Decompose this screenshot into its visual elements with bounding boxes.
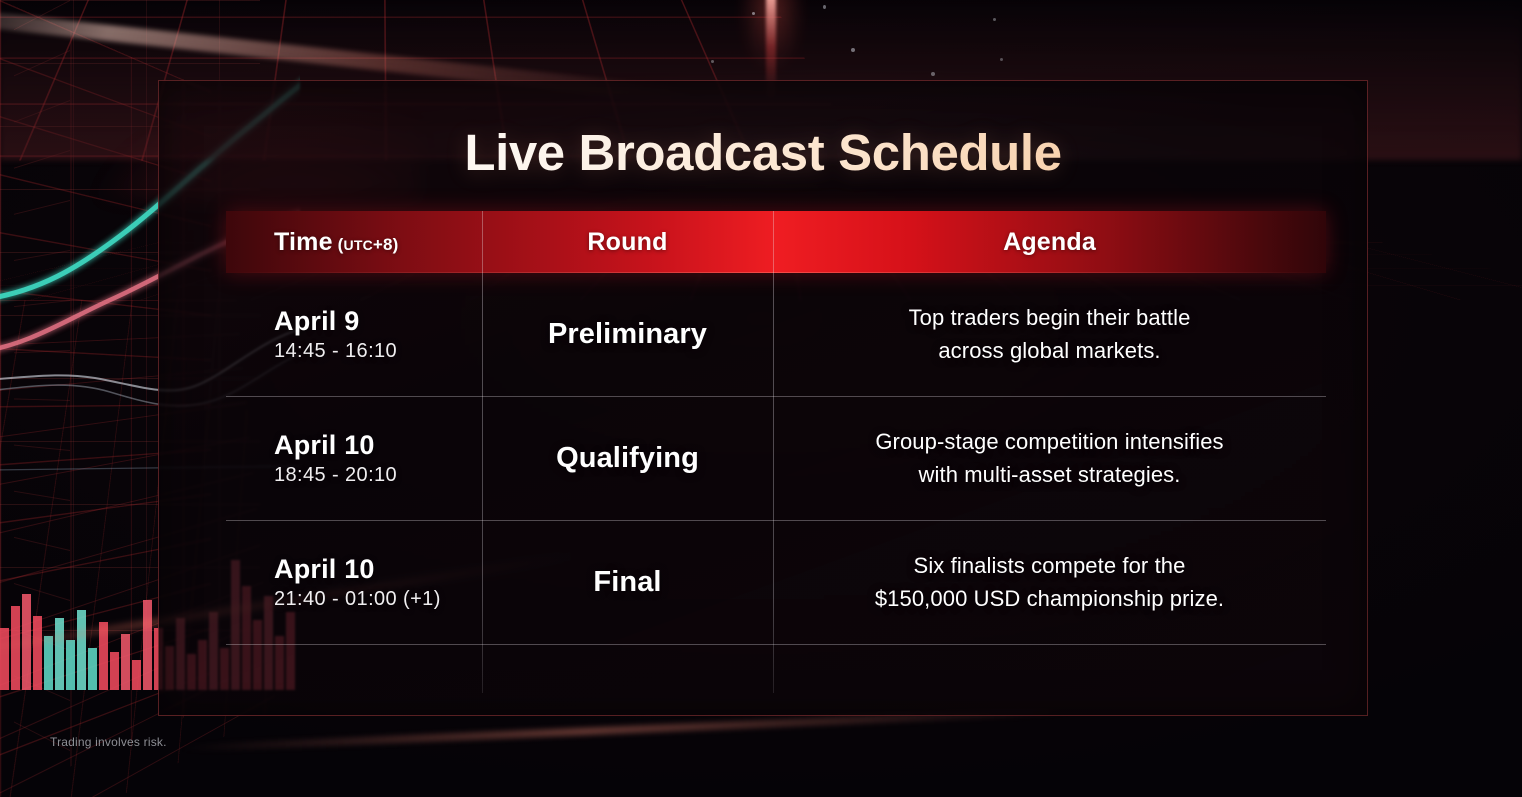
agenda-line: Group-stage competition intensifies bbox=[795, 426, 1304, 459]
row-time-range: 18:45 - 20:10 bbox=[274, 464, 482, 487]
table-header-row: Time (UTC+8) Round Agenda bbox=[226, 211, 1326, 273]
particle-dot bbox=[931, 72, 935, 76]
particle-dot bbox=[1000, 58, 1003, 61]
particle-dot bbox=[711, 60, 714, 63]
risk-disclaimer: Trading involves risk. bbox=[50, 735, 167, 749]
row-date: April 9 bbox=[274, 306, 482, 338]
column-header-timezone: (UTC+8) bbox=[333, 235, 399, 254]
agenda-line: $150,000 USD championship prize. bbox=[795, 583, 1304, 616]
timezone-utc-text: UTC bbox=[344, 237, 373, 253]
cell-round: Preliminary bbox=[482, 318, 773, 351]
table-row: April 10 21:40 - 01:00 (+1) Final Six fi… bbox=[226, 521, 1326, 645]
cell-agenda: Group-stage competition intensifies with… bbox=[773, 426, 1326, 491]
row-date: April 10 bbox=[274, 430, 482, 462]
cell-round: Final bbox=[482, 566, 773, 599]
screenshot-root: Live Broadcast Schedule Time (UTC+8) Rou… bbox=[0, 0, 1522, 797]
column-header-agenda: Agenda bbox=[773, 228, 1326, 257]
column-header-time-label: Time bbox=[274, 228, 333, 256]
cell-agenda: Top traders begin their battle across gl… bbox=[773, 302, 1326, 367]
cell-time: April 9 14:45 - 16:10 bbox=[226, 306, 482, 364]
schedule-table: Time (UTC+8) Round Agenda April 9 14:45 … bbox=[226, 211, 1326, 645]
cell-agenda: Six finalists compete for the $150,000 U… bbox=[773, 550, 1326, 615]
table-row: April 9 14:45 - 16:10 Preliminary Top tr… bbox=[226, 273, 1326, 397]
cell-time: April 10 18:45 - 20:10 bbox=[226, 430, 482, 488]
timezone-offset-text: +8) bbox=[373, 235, 399, 254]
particle-dot bbox=[993, 18, 996, 21]
agenda-line: with multi-asset strategies. bbox=[795, 459, 1304, 492]
cell-round: Qualifying bbox=[482, 442, 773, 475]
agenda-line: Six finalists compete for the bbox=[795, 550, 1304, 583]
row-time-range: 21:40 - 01:00 (+1) bbox=[274, 588, 482, 611]
schedule-card: Live Broadcast Schedule Time (UTC+8) Rou… bbox=[158, 80, 1368, 716]
agenda-line: across global markets. bbox=[795, 335, 1304, 368]
particle-dot bbox=[752, 12, 755, 15]
row-time-range: 14:45 - 16:10 bbox=[274, 340, 482, 363]
page-title: Live Broadcast Schedule bbox=[159, 123, 1367, 182]
row-date: April 10 bbox=[274, 554, 482, 586]
background-right-far-grid bbox=[14, 0, 70, 760]
table-row: April 10 18:45 - 20:10 Qualifying Group-… bbox=[226, 397, 1326, 521]
column-header-round: Round bbox=[482, 228, 773, 257]
particle-dot bbox=[851, 48, 855, 52]
particle-dot bbox=[823, 5, 826, 9]
column-header-time: Time (UTC+8) bbox=[226, 228, 482, 257]
agenda-line: Top traders begin their battle bbox=[795, 302, 1304, 335]
cell-time: April 10 21:40 - 01:00 (+1) bbox=[226, 554, 482, 612]
